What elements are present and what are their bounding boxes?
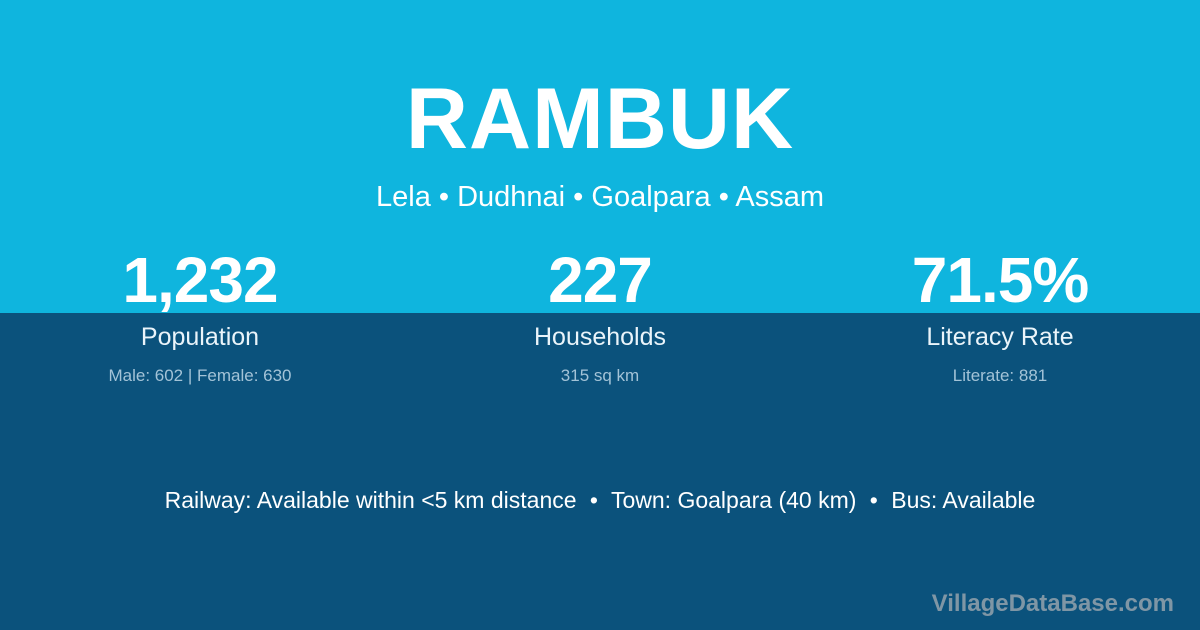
stat-value-households: 227 (400, 248, 800, 312)
site-watermark: VillageDataBase.com (932, 591, 1174, 617)
stat-households: 227 Households 315 sq km (400, 248, 800, 385)
amenities-line: Railway: Available within <5 km distance… (0, 487, 1200, 515)
stat-literacy-rate: 71.5% Literacy Rate Literate: 881 (800, 248, 1200, 385)
amenity-railway: Railway: Available within <5 km distance (165, 487, 577, 513)
stat-sub-households: 315 sq km (400, 367, 800, 386)
location-breadcrumb: Lela • Dudhnai • Goalpara • Assam (0, 180, 1200, 215)
page-title: RAMBUK (0, 76, 1200, 162)
stats-row: 1,232 Population Male: 602 | Female: 630… (0, 248, 1200, 385)
stat-sub-literacy-rate: Literate: 881 (800, 367, 1200, 386)
stat-sub-population: Male: 602 | Female: 630 (0, 367, 400, 386)
header-block: RAMBUK Lela • Dudhnai • Goalpara • Assam (0, 0, 1200, 215)
stat-population: 1,232 Population Male: 602 | Female: 630 (0, 248, 400, 385)
stat-label-population: Population (0, 324, 400, 352)
amenity-town: Town: Goalpara (40 km) (611, 487, 856, 513)
amenity-bus: Bus: Available (891, 487, 1035, 513)
stat-label-households: Households (400, 324, 800, 352)
stat-value-population: 1,232 (0, 248, 400, 312)
stat-label-literacy-rate: Literacy Rate (800, 324, 1200, 352)
stat-value-literacy-rate: 71.5% (800, 248, 1200, 312)
amenity-separator-1: • (583, 487, 605, 513)
amenity-separator-2: • (863, 487, 885, 513)
village-info-card: RAMBUK Lela • Dudhnai • Goalpara • Assam… (0, 0, 1200, 630)
